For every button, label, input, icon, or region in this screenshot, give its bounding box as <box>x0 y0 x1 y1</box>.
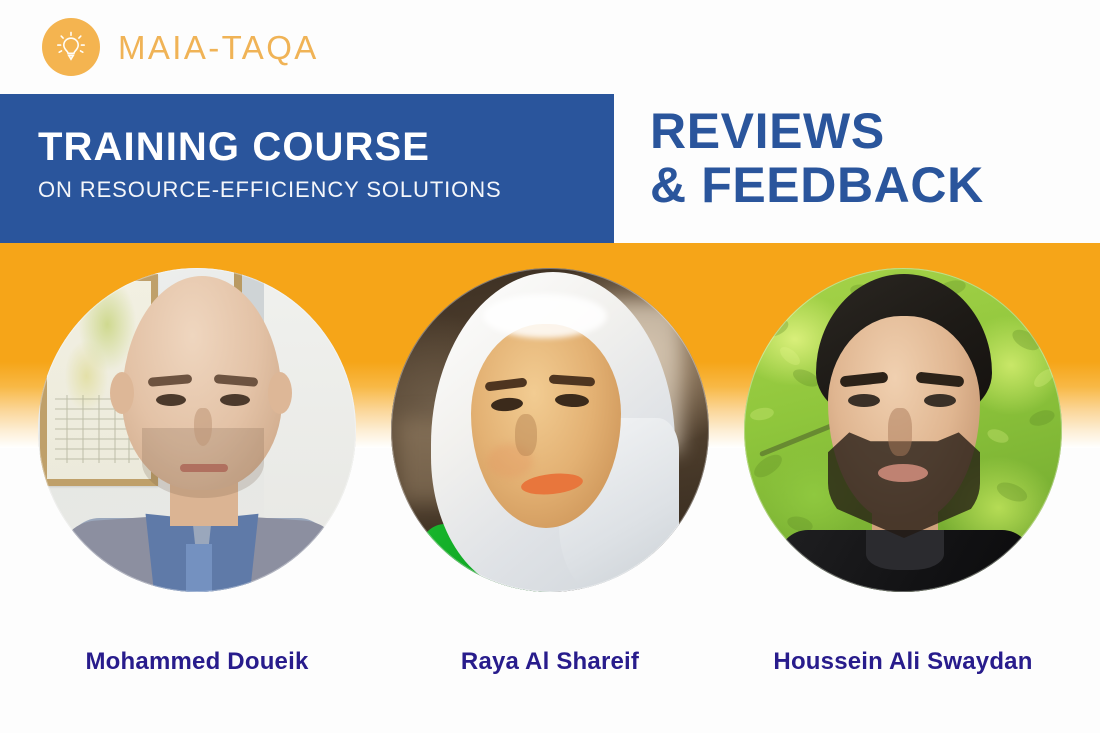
page-title-line-1: REVIEWS <box>650 103 885 159</box>
course-banner: TRAINING COURSE ON RESOURCE-EFFICIENCY S… <box>0 94 614 243</box>
participant-name: Raya Al Shareif <box>461 648 639 676</box>
portrait-mohammed-doueik <box>38 268 356 592</box>
participants-row: Mohammed Doueik <box>0 268 1100 676</box>
avatar <box>391 268 709 592</box>
participant-card[interactable]: Houssein Ali Swaydan <box>740 268 1066 676</box>
course-banner-text: TRAINING COURSE ON RESOURCE-EFFICIENCY S… <box>38 127 594 203</box>
brand-logo[interactable]: MAIA-TAQA <box>42 17 319 77</box>
avatar <box>744 268 1062 592</box>
poster-canvas: MAIA-TAQA TRAINING COURSE ON RESOURCE-EF… <box>0 0 1100 733</box>
brand-name: MAIA-TAQA <box>118 31 319 64</box>
lightbulb-icon <box>42 18 100 76</box>
avatar <box>38 268 356 592</box>
portrait-houssein-ali-swaydan <box>744 268 1062 592</box>
participant-name: Mohammed Doueik <box>85 648 308 676</box>
page-title: REVIEWS & FEEDBACK <box>650 104 984 212</box>
participant-card[interactable]: Mohammed Doueik <box>34 268 360 676</box>
page-title-line-2: & FEEDBACK <box>650 158 984 212</box>
portrait-raya-al-shareif <box>391 268 709 592</box>
participant-card[interactable]: Raya Al Shareif <box>387 268 713 676</box>
course-subtitle: ON RESOURCE-EFFICIENCY SOLUTIONS <box>38 177 594 203</box>
participant-name: Houssein Ali Swaydan <box>773 648 1032 676</box>
course-title: TRAINING COURSE <box>38 127 594 168</box>
